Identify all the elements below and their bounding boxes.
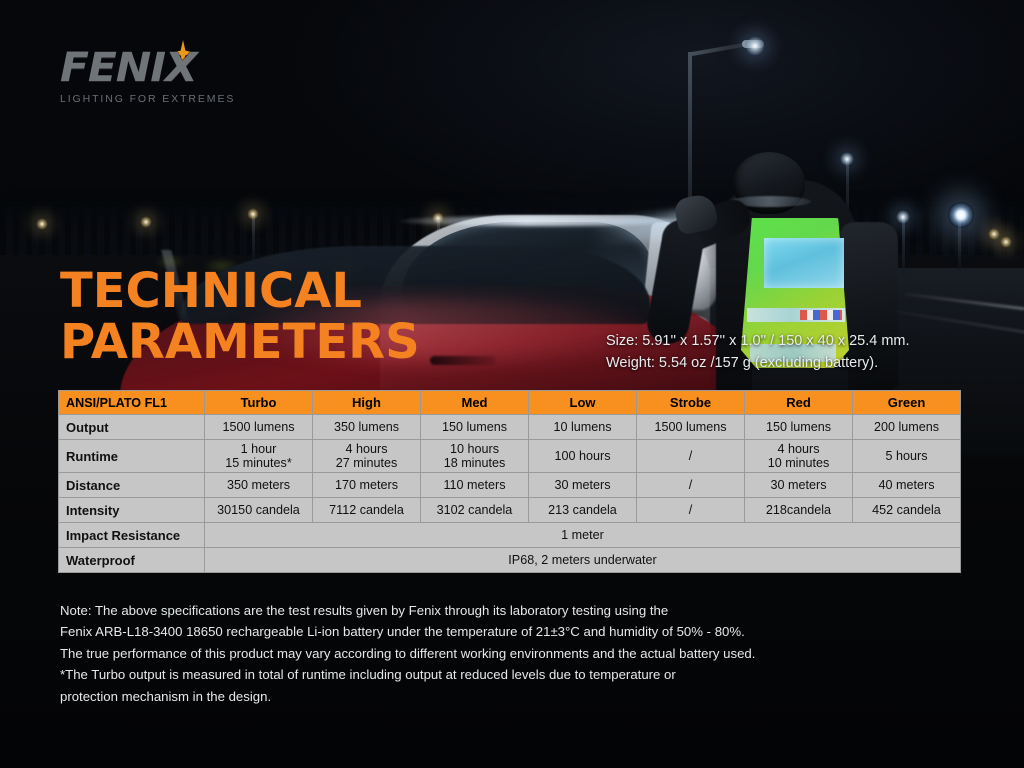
table-cell: 1500 lumens xyxy=(637,415,745,440)
column-header-low: Low xyxy=(529,391,637,415)
street-lamp-icon-4 xyxy=(140,216,152,228)
row-label: Distance xyxy=(59,473,205,498)
street-lamp-icon-7 xyxy=(988,228,1000,240)
fenix-logo: FENIX LIGHTING FOR EXTREMES xyxy=(60,48,290,105)
table-cell: / xyxy=(637,440,745,473)
row-label: Waterproof xyxy=(59,548,205,573)
table-cell: 1500 lumens xyxy=(205,415,313,440)
table-header: ANSI/PLATO FL1 Turbo High Med Low Strobe… xyxy=(59,391,961,415)
table-cell: 350 lumens xyxy=(313,415,421,440)
table-cell-span: 1 meter xyxy=(205,523,961,548)
street-lamp-icon-1 xyxy=(247,208,259,220)
technical-parameters-table: ANSI/PLATO FL1 Turbo High Med Low Strobe… xyxy=(58,390,961,573)
footnotes: Note: The above specifications are the t… xyxy=(60,600,960,707)
table-cell: 110 meters xyxy=(421,473,529,498)
column-header-standard: ANSI/PLATO FL1 xyxy=(59,391,205,415)
table-row: Runtime1 hour15 minutes*4 hours27 minute… xyxy=(59,440,961,473)
table-cell: 7112 candela xyxy=(313,498,421,523)
table-cell: 30 meters xyxy=(745,473,853,498)
fenix-wordmark: FENIX xyxy=(60,48,304,88)
table-row: Intensity30150 candela7112 candela3102 c… xyxy=(59,498,961,523)
dimensions-block: Size: 5.91'' x 1.57'' x 1.0'' / 150 x 40… xyxy=(606,330,976,374)
table-cell: 150 lumens xyxy=(745,415,853,440)
street-lamp-icon-6 xyxy=(948,202,974,228)
footnote-line: *The Turbo output is measured in total o… xyxy=(60,664,960,685)
footnote-line: Note: The above specifications are the t… xyxy=(60,600,960,621)
lamp-pole-right-1 xyxy=(902,218,905,276)
lamp-pole-distant-1 xyxy=(252,214,255,260)
table-row: Impact Resistance1 meter xyxy=(59,523,961,548)
table-cell-span: IP68, 2 meters underwater xyxy=(205,548,961,573)
table-cell: 150 lumens xyxy=(421,415,529,440)
table-cell: 452 candela xyxy=(853,498,961,523)
vest-badge xyxy=(800,310,842,320)
row-label: Impact Resistance xyxy=(59,523,205,548)
street-lamp-icon-5 xyxy=(896,210,910,224)
table-cell: 100 hours xyxy=(529,440,637,473)
street-lamp-icon-9 xyxy=(840,152,854,166)
column-header-red: Red xyxy=(745,391,853,415)
table-cell: 4 hours27 minutes xyxy=(313,440,421,473)
table-cell: 5 hours xyxy=(853,440,961,473)
table-cell: 170 meters xyxy=(313,473,421,498)
column-header-high: High xyxy=(313,391,421,415)
weight-text: Weight: 5.54 oz /157 g (excluding batter… xyxy=(606,352,976,374)
table-cell: 213 candela xyxy=(529,498,637,523)
table-cell: 10 hours18 minutes xyxy=(421,440,529,473)
page-title-line-1: TECHNICAL xyxy=(60,263,362,319)
row-label: Output xyxy=(59,415,205,440)
street-lamp-icon-8 xyxy=(1000,236,1012,248)
street-lamp-icon-3 xyxy=(36,218,48,230)
column-header-med: Med xyxy=(421,391,529,415)
table-row: WaterproofIP68, 2 meters underwater xyxy=(59,548,961,573)
table-cell: 200 lumens xyxy=(853,415,961,440)
footnote-line: The true performance of this product may… xyxy=(60,643,960,664)
column-header-green: Green xyxy=(853,391,961,415)
table-header-row: ANSI/PLATO FL1 Turbo High Med Low Strobe… xyxy=(59,391,961,415)
table-cell: 10 lumens xyxy=(529,415,637,440)
table-cell: 218candela xyxy=(745,498,853,523)
table-cell: 40 meters xyxy=(853,473,961,498)
street-lamp-icon-mast xyxy=(745,36,765,56)
table-cell: 350 meters xyxy=(205,473,313,498)
table-cell: 30150 candela xyxy=(205,498,313,523)
table-cell: / xyxy=(637,498,745,523)
table-cell: 4 hours10 minutes xyxy=(745,440,853,473)
row-label: Intensity xyxy=(59,498,205,523)
table-cell: / xyxy=(637,473,745,498)
table-row: Output1500 lumens350 lumens150 lumens10 … xyxy=(59,415,961,440)
page-title-line-2: PARAMETERS xyxy=(60,317,620,368)
fenix-tagline: LIGHTING FOR EXTREMES xyxy=(60,93,290,105)
vest-reflective-panel xyxy=(764,238,844,288)
footnote-line: Fenix ARB-L18-3400 18650 rechargeable Li… xyxy=(60,621,960,642)
size-text: Size: 5.91'' x 1.57'' x 1.0'' / 150 x 40… xyxy=(606,330,976,352)
table-cell: 30 meters xyxy=(529,473,637,498)
row-label: Runtime xyxy=(59,440,205,473)
table-cell: 3102 candela xyxy=(421,498,529,523)
column-header-strobe: Strobe xyxy=(637,391,745,415)
table-row: Distance350 meters170 meters110 meters30… xyxy=(59,473,961,498)
column-header-turbo: Turbo xyxy=(205,391,313,415)
product-spec-page: FENIX LIGHTING FOR EXTREMES TECHNICAL PA… xyxy=(0,0,1024,768)
table-cell: 1 hour15 minutes* xyxy=(205,440,313,473)
page-title: TECHNICAL PARAMETERS xyxy=(60,266,620,368)
table-body: Output1500 lumens350 lumens150 lumens10 … xyxy=(59,415,961,573)
footnote-line: protection mechanism in the design. xyxy=(60,686,960,707)
